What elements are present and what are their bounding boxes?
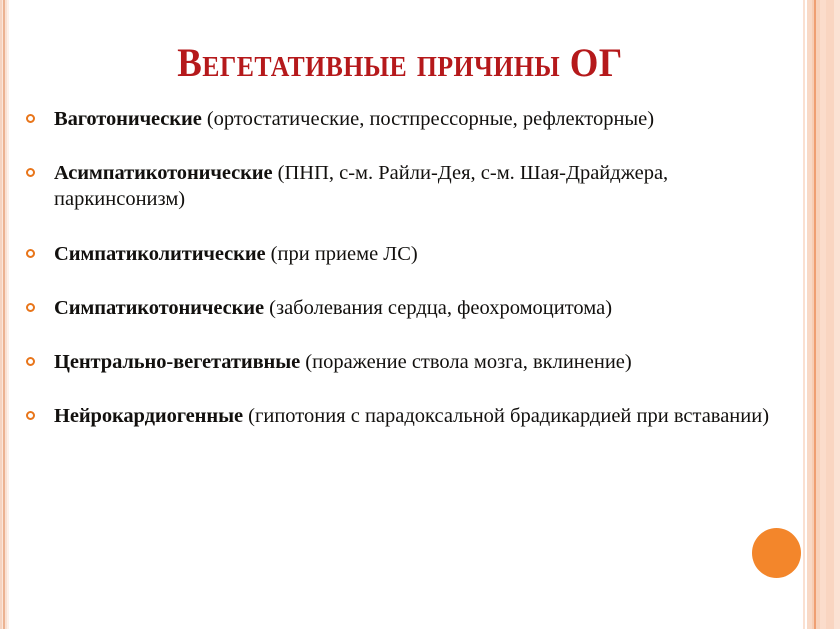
- bullet-term: Симпатиколитические: [54, 243, 266, 265]
- bullet-circle-icon: [26, 114, 35, 123]
- bullet-detail: (при приеме ЛС): [266, 243, 418, 265]
- bullet-circle-icon: [26, 357, 35, 366]
- right-border-decoration: [800, 0, 840, 629]
- bullet-detail: (заболевания сердца, феохромоцитома): [264, 297, 612, 319]
- bullet-detail: (поражение ствола мозга, вклинение): [300, 351, 632, 373]
- slide-canvas: Вегетативные причины ОГ Ваготонические (…: [0, 0, 840, 629]
- bullet-circle-icon: [26, 303, 35, 312]
- bullet-circle-icon: [26, 168, 35, 177]
- bullet-detail: (гипотония с парадоксальной брадикардией…: [243, 405, 769, 427]
- bullet-term: Нейрокардиогенные: [54, 405, 243, 427]
- list-item: Ваготонические (ортостатические, постпре…: [22, 106, 796, 132]
- list-item: Симпатиколитические (при приеме ЛС): [22, 241, 796, 267]
- slide-title: Вегетативные причины ОГ: [32, 41, 768, 85]
- bullet-circle-icon: [26, 411, 35, 420]
- bullet-list: Ваготонические (ортостатические, постпре…: [22, 106, 796, 430]
- list-item: Нейрокардиогенные (гипотония с парадокса…: [22, 403, 796, 429]
- list-item: Симпатикотонические (заболевания сердца,…: [22, 295, 796, 321]
- left-border-decoration: [0, 0, 9, 629]
- bullet-term: Симпатикотонические: [54, 297, 264, 319]
- list-item: Центрально-вегетативные (поражение ствол…: [22, 349, 796, 375]
- bullet-detail: (ортостатические, постпрессорные, рефлек…: [202, 108, 654, 130]
- orange-circle-decoration: [752, 528, 801, 578]
- bullet-term: Центрально-вегетативные: [54, 351, 300, 373]
- bullet-term: Ваготонические: [54, 108, 202, 130]
- list-item: Асимпатикотонические (ПНП, с-м. Райли-Де…: [22, 160, 796, 212]
- bullet-circle-icon: [26, 249, 35, 258]
- bullet-term: Асимпатикотонические: [54, 162, 273, 184]
